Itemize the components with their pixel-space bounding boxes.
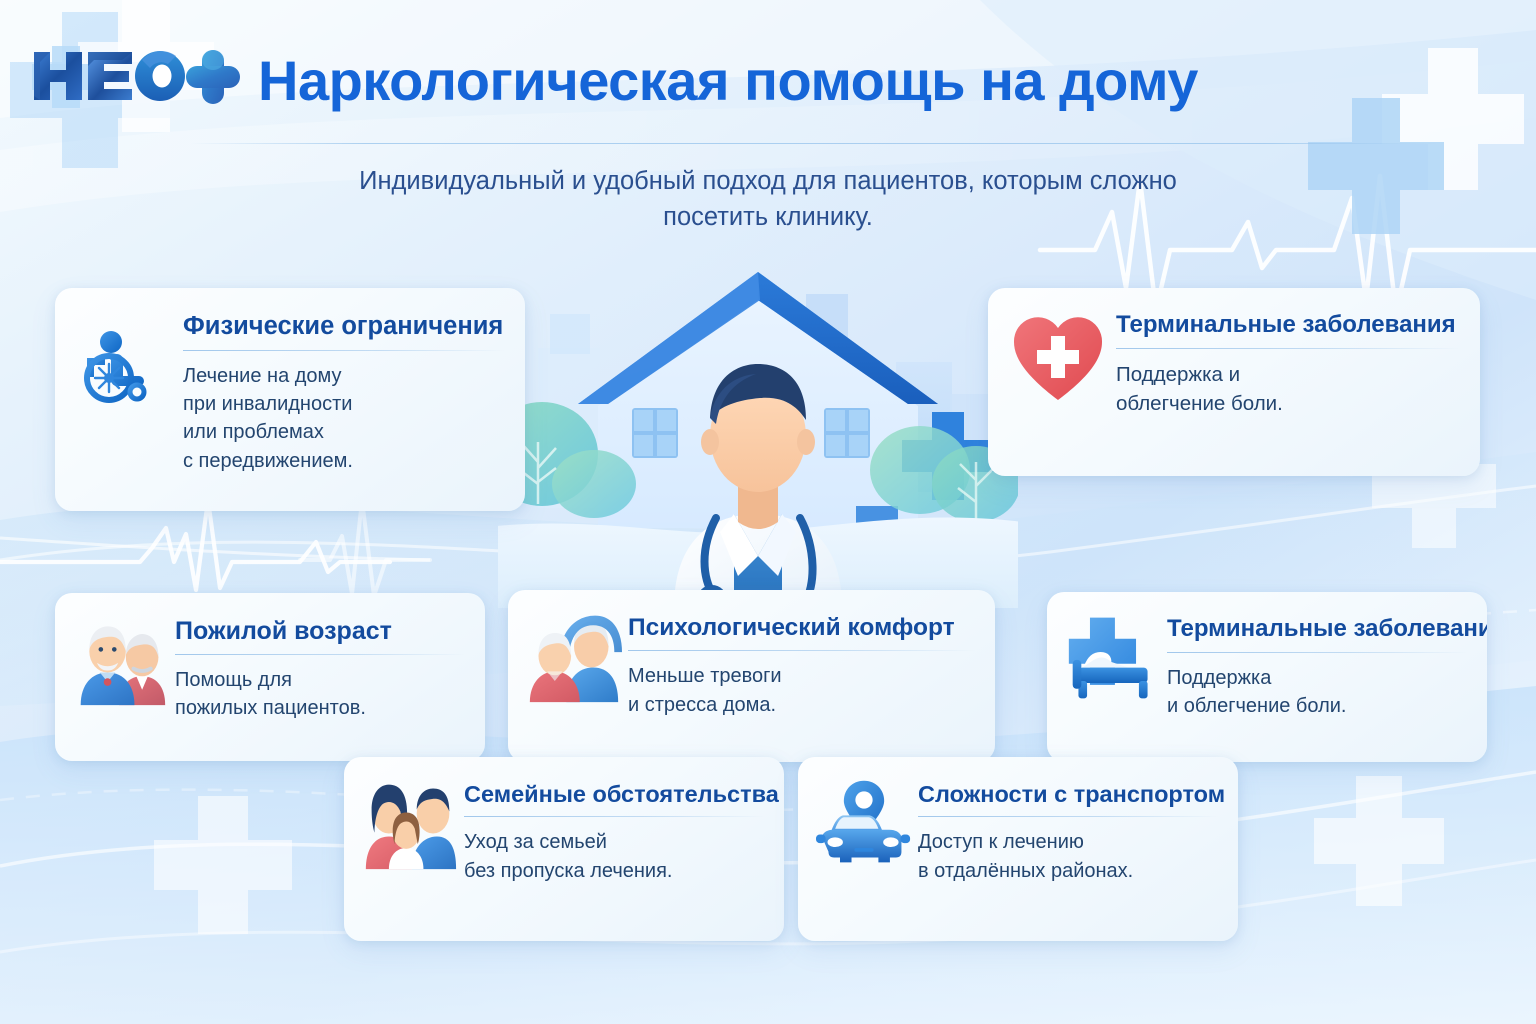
family-icon [362, 775, 458, 871]
header: Наркологическая помощь на дому Индивидуа… [0, 0, 1536, 150]
card-title: Терминальные заболевания [1116, 312, 1460, 339]
elderly-couple-icon [73, 611, 169, 707]
card-elderly-age[interactable]: Пожилой возраст Помощь для пожилых пацие… [55, 593, 485, 761]
card-divider [183, 350, 505, 351]
card-title: Семейные обстоятельства [464, 781, 764, 807]
card-physical-limitations[interactable]: Физические ограничения Лечение на дому п… [55, 288, 525, 511]
car-location-icon [816, 775, 912, 871]
wheelchair-icon [73, 306, 177, 410]
hospital-bed-cross-icon [1065, 610, 1161, 706]
brand-logo[interactable] [20, 38, 252, 114]
card-family-circumstances[interactable]: Семейные обстоятельства Уход за семьей б… [344, 757, 784, 941]
card-description: Помощь для пожилых пациентов. [175, 666, 465, 723]
two-people-icon [526, 608, 622, 704]
card-divider [1116, 348, 1460, 349]
card-title: Сложности с транспортом [918, 781, 1218, 807]
page-title: Наркологическая помощь на дому [258, 52, 1198, 111]
card-terminal-illness-bed[interactable]: Терминальные заболевания Поддержка и обл… [1047, 592, 1487, 762]
card-title: Физические ограничения [183, 312, 505, 341]
card-description: Меньше тревоги и стресса дома. [628, 662, 975, 719]
card-divider [1167, 652, 1467, 653]
doctor-at-home-illustration [498, 256, 1018, 608]
card-divider [628, 650, 975, 651]
card-description: Доступ к лечению в отдалённых районах. [918, 828, 1218, 885]
card-transport-difficulties[interactable]: Сложности с транспортом Доступ к лечению… [798, 757, 1238, 941]
card-description: Уход за семьей без пропуска лечения. [464, 828, 764, 885]
page-subtitle: Индивидуальный и удобный подход для паци… [318, 163, 1218, 235]
card-title: Терминальные заболевания [1167, 616, 1467, 643]
card-terminal-illness-heart[interactable]: Терминальные заболевания Поддержка и обл… [988, 288, 1480, 476]
card-description: Лечение на дому при инвалидности или про… [183, 362, 505, 476]
card-divider [918, 816, 1218, 817]
heart-cross-icon [1006, 306, 1110, 410]
card-psychological-comfort[interactable]: Психологический комфорт Меньше тревоги и… [508, 590, 995, 762]
card-title: Пожилой возраст [175, 617, 465, 645]
card-divider [464, 816, 764, 817]
card-divider [175, 654, 465, 655]
card-title: Психологический комфорт [628, 614, 975, 641]
card-description: Поддержка и облегчение боли. [1116, 360, 1460, 418]
header-divider [190, 143, 1440, 144]
neo-plus-logo-icon [20, 38, 252, 114]
card-description: Поддержка и облегчение боли. [1167, 664, 1467, 721]
